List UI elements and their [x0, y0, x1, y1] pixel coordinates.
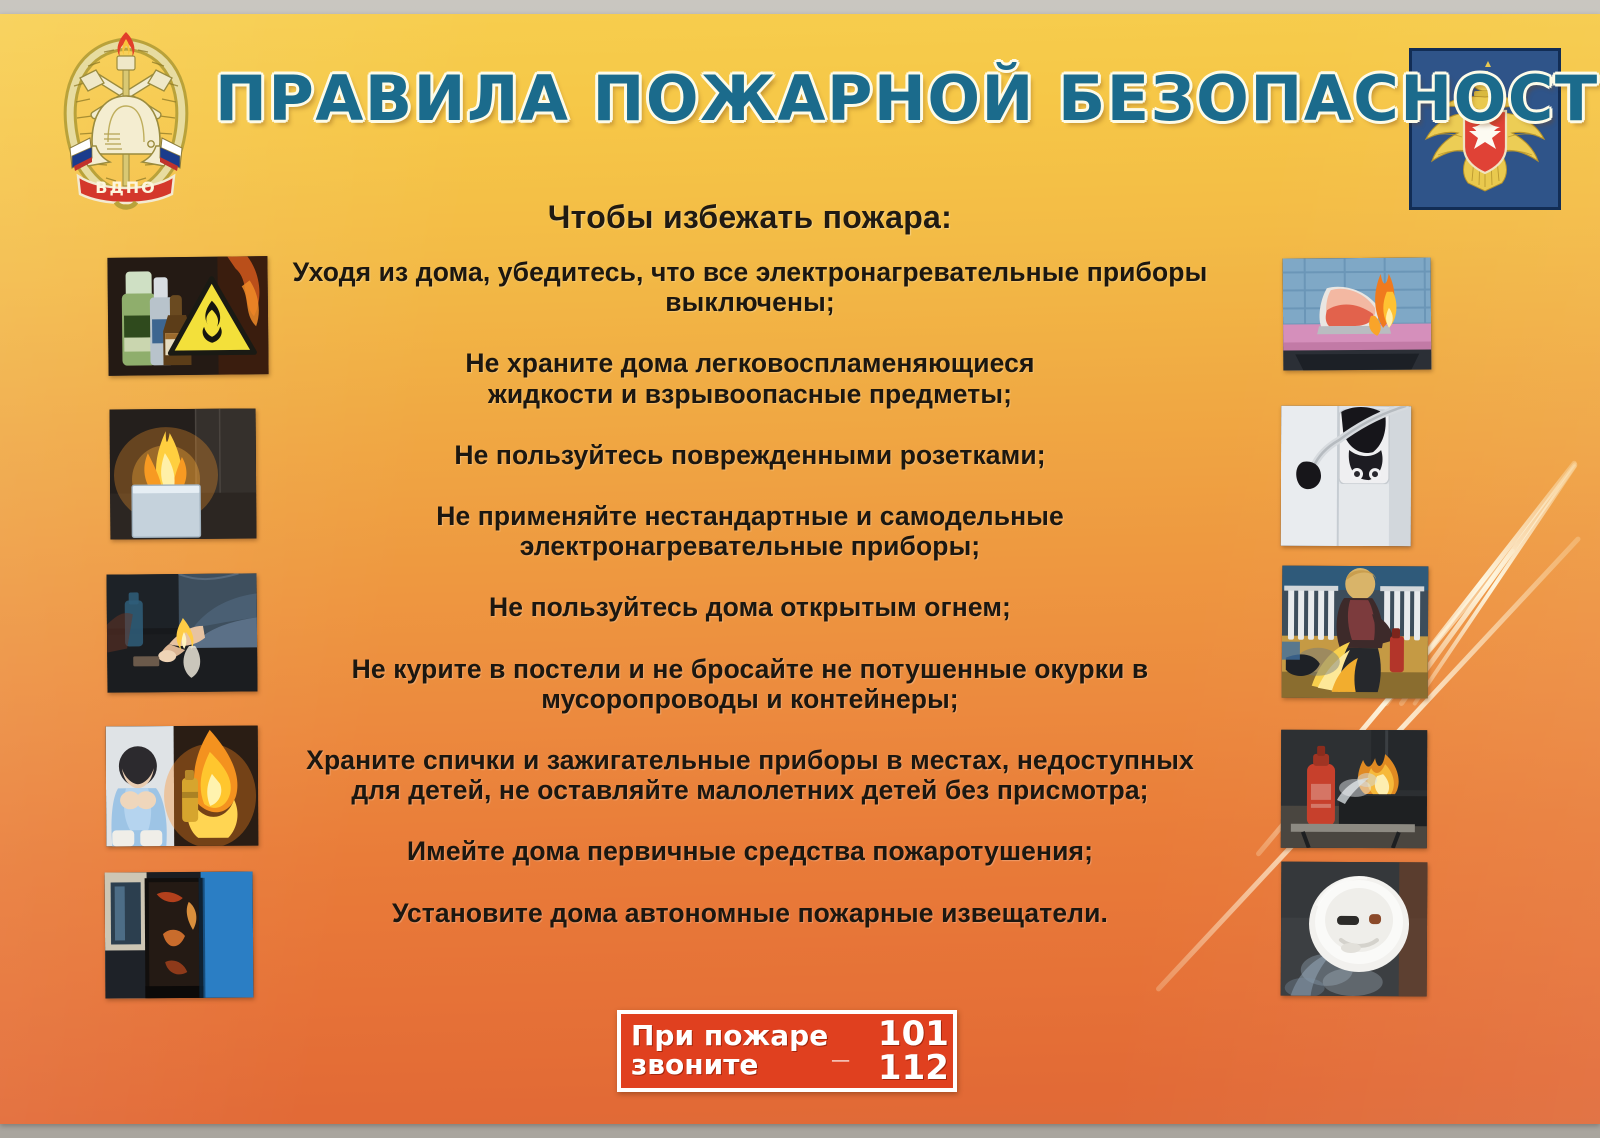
rule-line: для детей, не оставляйте малолетних дете…: [280, 775, 1220, 805]
rule-line: жидкости и взрывоопасные предметы;: [280, 379, 1220, 409]
photo-burning-appliance: [110, 408, 257, 539]
rule-item: Уходя из дома, убедитесь, что все электр…: [280, 257, 1220, 317]
emergency-dash: _: [828, 1032, 853, 1066]
svg-text:ВДПО: ВДПО: [95, 178, 156, 197]
section-subtitle: Чтобы избежать пожара:: [300, 199, 1200, 236]
photo-smoke-detector: [1281, 862, 1428, 997]
rule-line: Не пользуйтесь дома открытым огнем;: [280, 592, 1220, 622]
emergency-number-101: 101: [853, 1017, 949, 1051]
emergency-call-inner: При пожаре звоните _ 101 112: [621, 1014, 953, 1088]
fire-safety-poster: ВДПО: [0, 14, 1600, 1124]
photo-flammable-liquids: [107, 256, 268, 376]
rule-line: выключены;: [280, 287, 1220, 317]
rule-line: Храните спички и зажигательные приборы в…: [280, 745, 1220, 775]
rule-item: Установите дома автономные пожарные изве…: [280, 898, 1220, 928]
rule-line: Не храните дома легковоспламеняющиеся: [280, 348, 1220, 378]
rule-line: Не курите в постели и не бросайте не пот…: [280, 654, 1220, 684]
rule-item: Не храните дома легковоспламеняющиеся жи…: [280, 348, 1220, 408]
rule-line: Не пользуйтесь поврежденными розетками;: [280, 440, 1220, 470]
rule-item: Не применяйте нестандартные и самодельны…: [280, 501, 1220, 561]
photo-child-near-fire: [106, 726, 259, 847]
photo-burning-iron: [1283, 257, 1432, 370]
vdpo-emblem: ВДПО: [52, 26, 200, 211]
background-surface: ВДПО: [0, 0, 1600, 1138]
photo-match-hand: [106, 573, 257, 692]
emergency-number-112: 112: [853, 1051, 949, 1085]
photo-extinguisher-fire: [1281, 730, 1427, 849]
rule-line: мусоропроводы и контейнеры;: [280, 684, 1220, 714]
photo-burning-door: [105, 871, 254, 998]
emergency-call-plate: При пожаре звоните _ 101 112: [617, 1010, 957, 1092]
rule-item: Не курите в постели и не бросайте не пот…: [280, 654, 1220, 714]
photo-damaged-socket: [1281, 406, 1411, 546]
rules-list: Уходя из дома, убедитесь, что все электр…: [280, 257, 1220, 928]
page-title: ПРАВИЛА ПОЖАРНОЙ БЕЗОПАСНОСТИ: [215, 62, 1405, 135]
emergency-line-1: При пожаре: [631, 1022, 828, 1051]
photo-person-extinguishing: [1282, 566, 1429, 699]
rule-line: Установите дома автономные пожарные изве…: [280, 898, 1220, 928]
rule-line: электронагревательные приборы;: [280, 531, 1220, 561]
rule-line: Не применяйте нестандартные и самодельны…: [280, 501, 1220, 531]
rule-item: Не пользуйтесь дома открытым огнем;: [280, 592, 1220, 622]
rule-item: Имейте дома первичные средства пожаротуш…: [280, 836, 1220, 866]
emergency-call-text: При пожаре звоните: [631, 1022, 828, 1079]
rule-item: Храните спички и зажигательные приборы в…: [280, 745, 1220, 805]
rule-line: Уходя из дома, убедитесь, что все электр…: [280, 257, 1220, 287]
emergency-line-2: звоните: [631, 1051, 828, 1080]
rule-line: Имейте дома первичные средства пожаротуш…: [280, 836, 1220, 866]
rule-item: Не пользуйтесь поврежденными розетками;: [280, 440, 1220, 470]
emergency-numbers: 101 112: [853, 1017, 949, 1085]
decorative-ray-5: [1412, 464, 1577, 707]
